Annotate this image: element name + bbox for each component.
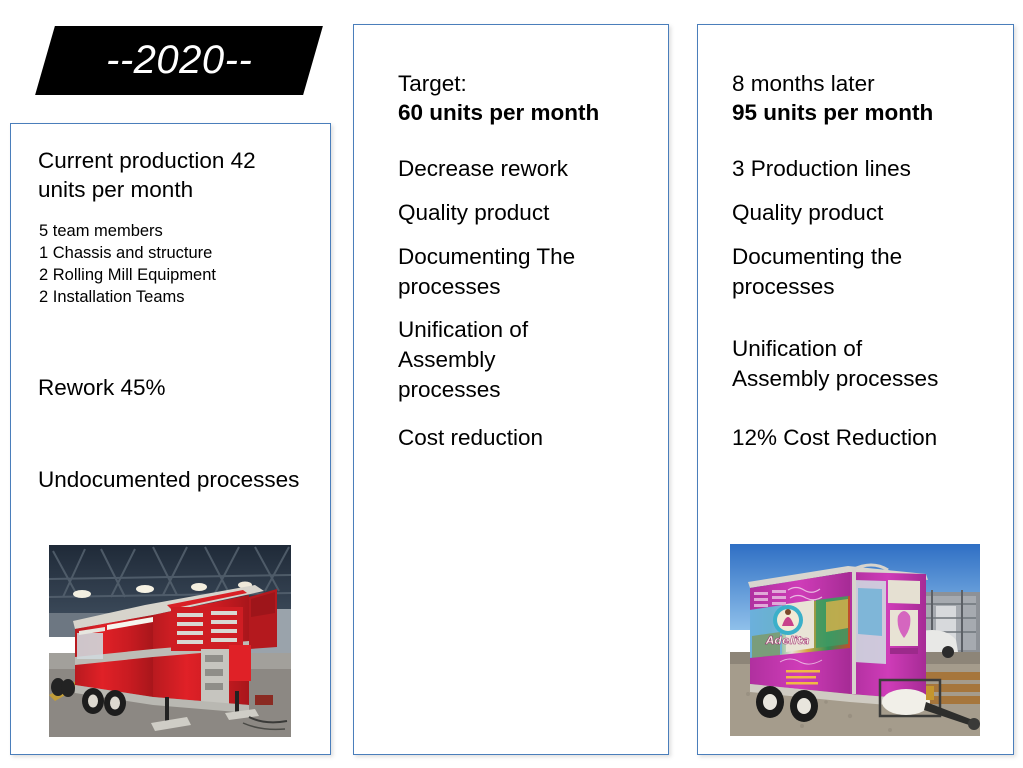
red-food-trailer-photo xyxy=(49,545,291,737)
undocumented-processes-label: Undocumented processes xyxy=(38,465,328,494)
target-bullet: Quality product xyxy=(398,198,648,228)
result-bullet: Documenting the processes xyxy=(732,242,962,302)
year-banner-label: --2020-- xyxy=(106,38,252,83)
rework-label: Rework 45% xyxy=(38,373,308,402)
purple-trailer-illustration: Adelita xyxy=(730,544,980,736)
resource-list-item: 1 Chassis and structure xyxy=(39,243,309,265)
result-bullet: Unification of Assembly processes xyxy=(732,334,992,394)
result-bullet: Quality product xyxy=(732,198,992,228)
resource-list-item: 2 Installation Teams xyxy=(39,287,309,309)
target-bullet: Unification of Assembly processes xyxy=(398,315,578,405)
purple-food-trailer-photo: Adelita xyxy=(730,544,980,736)
resource-list-item: 2 Rolling Mill Equipment xyxy=(39,265,309,287)
resource-list-item: 5 team members xyxy=(39,221,309,243)
result-heading: 8 months later xyxy=(732,69,992,98)
target-state-card: Target: 60 units per month Decrease rewo… xyxy=(353,24,669,755)
current-production-heading: Current production 42 units per month xyxy=(38,146,308,204)
target-bullet: Decrease rework xyxy=(398,154,648,184)
result-bullet: 12% Cost Reduction xyxy=(732,423,992,453)
target-value: 60 units per month xyxy=(398,98,648,127)
red-trailer-illustration xyxy=(49,545,291,737)
result-value: 95 units per month xyxy=(732,98,992,127)
result-bullet: 3 Production lines xyxy=(732,154,992,184)
target-bullet: Documenting The processes xyxy=(398,242,608,302)
target-bullet: Cost reduction xyxy=(398,423,648,453)
target-heading: Target: xyxy=(398,69,648,98)
year-banner: --2020-- xyxy=(35,26,323,95)
svg-text:Adelita: Adelita xyxy=(765,634,810,647)
